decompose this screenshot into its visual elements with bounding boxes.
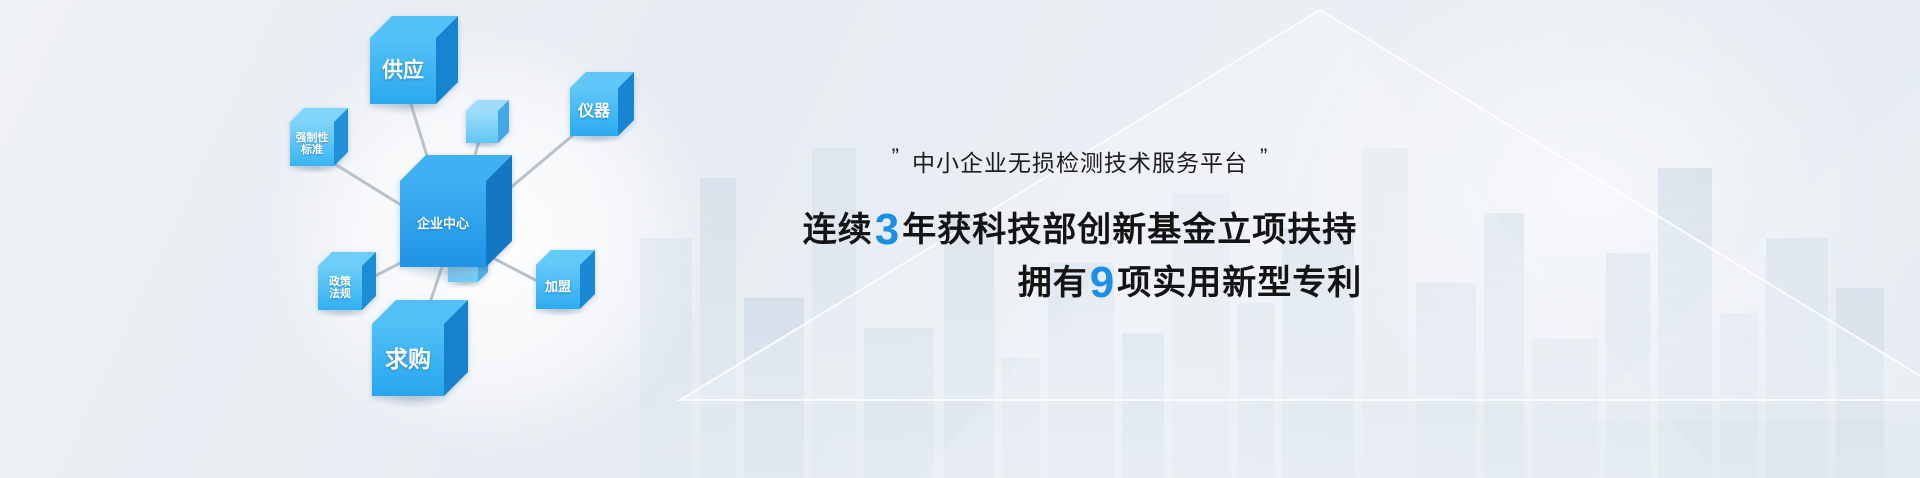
quote-close-mark: ” xyxy=(1248,144,1280,169)
skyline-bar xyxy=(1532,338,1598,478)
cube-geometry xyxy=(536,250,595,309)
hero-banner: 供应仪器强制性 标准加盟政策 法规求购企业中心 ”中小企业无损检测技术服务平台”… xyxy=(0,0,1920,478)
skyline-bar xyxy=(1484,213,1524,478)
skyline-bar xyxy=(1766,238,1828,478)
cube-geometry xyxy=(372,300,468,396)
cube-blank-small-top[interactable] xyxy=(466,100,509,143)
cube-face-front xyxy=(536,265,580,309)
banner-copy: ”中小企业无损检测技术服务平台” 连续3年获科技部创新基金立项扶持 拥有9项实用… xyxy=(700,0,1460,478)
tagline-text: 中小企业无损检测技术服务平台 xyxy=(912,150,1248,176)
cube-face-front xyxy=(400,181,486,267)
cube-face-front xyxy=(370,38,436,104)
cube-policy[interactable]: 政策 法规 xyxy=(318,252,376,310)
cube-geometry xyxy=(290,108,348,166)
cube-center[interactable]: 企业中心 xyxy=(400,155,512,267)
cube-supply[interactable]: 供应 xyxy=(370,16,458,104)
enterprise-node-diagram: 供应仪器强制性 标准加盟政策 法规求购企业中心 xyxy=(0,0,760,478)
headline-line-1: 连续3年获科技部创新基金立项扶持 xyxy=(700,202,1460,252)
cube-standard[interactable]: 强制性 标准 xyxy=(290,108,348,166)
cube-geometry xyxy=(318,252,376,310)
cube-face-front xyxy=(372,324,444,396)
cube-instrument[interactable]: 仪器 xyxy=(570,72,634,136)
cube-face-front xyxy=(290,122,334,166)
headline-1-before: 连续 xyxy=(803,211,873,249)
headline-1-number: 3 xyxy=(873,205,902,254)
skyline-bar xyxy=(1720,313,1758,478)
cube-face-front xyxy=(570,88,618,136)
skyline-bar xyxy=(1836,288,1884,478)
cube-geometry xyxy=(570,72,634,136)
tagline-row: ”中小企业无损检测技术服务平台” xyxy=(700,144,1460,178)
skyline-bar xyxy=(1606,253,1650,478)
cube-geometry xyxy=(466,100,509,143)
cube-geometry xyxy=(370,16,458,104)
cube-join[interactable]: 加盟 xyxy=(536,250,595,309)
headline-2-after: 项实用新型专利 xyxy=(1117,264,1362,302)
headline-line-2: 拥有9项实用新型专利 xyxy=(700,255,1570,305)
cube-wanted[interactable]: 求购 xyxy=(372,300,468,396)
quote-open-mark: ” xyxy=(880,144,912,169)
headline-2-before: 拥有 xyxy=(1018,264,1088,302)
cube-face-front xyxy=(318,266,362,310)
headline-2-number: 9 xyxy=(1088,258,1117,307)
headline-1-after: 年获科技部创新基金立项扶持 xyxy=(902,211,1357,249)
skyline-bar xyxy=(1658,168,1712,478)
cube-face-front xyxy=(466,111,498,143)
cube-geometry xyxy=(400,155,512,267)
